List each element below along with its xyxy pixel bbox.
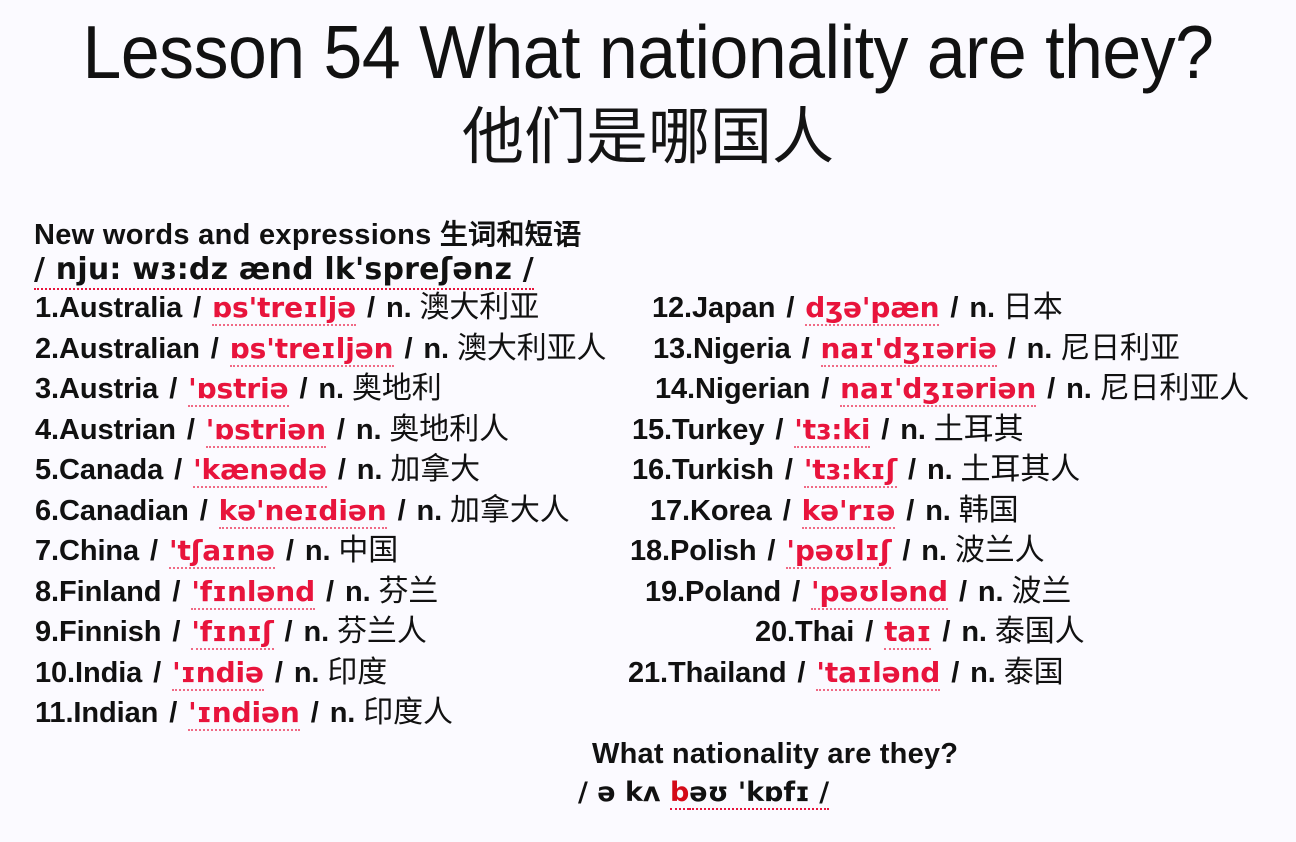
new-words-heading-english: New words and expressions [34, 219, 432, 251]
entry-word: Thailand [668, 657, 786, 689]
entry-chinese: 澳大利亚人 [457, 331, 607, 366]
entry-number: 16. [632, 454, 672, 486]
entry-part-of-speech: n. [921, 535, 947, 567]
phonetic-slash-close: / [401, 333, 415, 365]
phonetic-slash-open: / [208, 333, 222, 365]
entry-phonetic: ɒs'treɪljən [230, 332, 394, 367]
entry-chinese: 日本 [1003, 290, 1063, 325]
footer-phonetic-highlight: b [670, 777, 689, 810]
entry-phonetic: 'tɜ:ki [794, 413, 870, 448]
entry-number: 7. [35, 535, 59, 567]
entry-chinese: 中国 [338, 533, 398, 568]
entry-phonetic: naɪ'dʒɪəriən [840, 372, 1036, 407]
entry-part-of-speech: n. [969, 292, 995, 324]
vocabulary-entry: 18.Polish / 'pəʊlɪʃ / n. 波兰人 [600, 531, 1296, 572]
entry-number: 9. [35, 616, 59, 648]
phonetic-slash-close: / [1005, 333, 1019, 365]
entry-number: 3. [35, 373, 59, 405]
entry-chinese: 奥地利人 [389, 412, 509, 447]
entry-word: Austria [59, 373, 158, 405]
phonetic-slash-open: / [789, 576, 803, 608]
phonetic-slash-close: / [947, 292, 961, 324]
entry-number: 8. [35, 576, 59, 608]
entry-number: 20. [755, 616, 795, 648]
phonetic-slash-close: / [1044, 373, 1058, 405]
entry-phonetic: 'kænədə [193, 453, 327, 488]
entry-chinese: 加拿大 [390, 452, 480, 487]
entry-word: China [59, 535, 139, 567]
lesson-title-english: Lesson 54 What nationality are they? [45, 14, 1250, 91]
lesson-title-chinese: 他们是哪国人 [0, 104, 1296, 169]
entry-part-of-speech: n. [961, 616, 987, 648]
entry-number: 11. [35, 697, 73, 729]
entry-phonetic: kə'neɪdiən [219, 494, 387, 529]
vocabulary-entry: 21.Thailand / 'taɪlənd / n. 泰国 [600, 653, 1296, 694]
phonetic-slash-open: / [147, 535, 161, 567]
entry-word: Finnish [59, 616, 161, 648]
vocabulary-entry: 13.Nigeria / naɪ'dʒɪəriə / n. 尼日利亚 [600, 329, 1296, 370]
phonetic-slash-close: / [878, 414, 892, 446]
entry-chinese: 波兰 [1011, 574, 1071, 609]
vocabulary-entry: 6.Canadian / kə'neɪdiən / n. 加拿大人 [0, 491, 640, 532]
phonetic-slash-close: / [282, 616, 296, 648]
entry-number: 13. [653, 333, 693, 365]
entry-part-of-speech: n. [294, 657, 320, 689]
phonetic-slash-close: / [899, 535, 913, 567]
phonetic-slash-open: / [794, 657, 808, 689]
entry-part-of-speech: n. [900, 414, 926, 446]
entry-chinese: 芬兰 [379, 574, 439, 609]
phonetic-slash-open: / [166, 697, 180, 729]
entry-chinese: 澳大利亚 [420, 290, 540, 325]
phonetic-slash-close: / [364, 292, 378, 324]
entry-number: 14. [655, 373, 695, 405]
entry-part-of-speech: n. [927, 454, 953, 486]
vocabulary-entry: 7.China / 'tʃaɪnə / n. 中国 [0, 531, 640, 572]
entry-number: 18. [630, 535, 670, 567]
entry-number: 4. [35, 414, 59, 446]
entry-part-of-speech: n. [423, 333, 449, 365]
entry-chinese: 土耳其 [934, 412, 1024, 447]
entry-word: Thai [795, 616, 854, 648]
new-words-heading: New words and expressions 生词和短语 [34, 213, 581, 253]
vocabulary-column-left: 1.Australia / ɒs'treɪljə / n. 澳大利亚2.Aust… [0, 288, 640, 734]
entry-chinese: 泰国人 [995, 614, 1085, 649]
phonetic-slash-open: / [169, 616, 183, 648]
phonetic-slash-close: / [905, 454, 919, 486]
entry-part-of-speech: n. [1027, 333, 1053, 365]
entry-number: 15. [632, 414, 672, 446]
phonetic-slash-close: / [335, 454, 349, 486]
phonetic-slash-open: / [862, 616, 876, 648]
entry-chinese: 韩国 [959, 493, 1019, 528]
entry-number: 10. [35, 657, 75, 689]
phonetic-slash-open: / [764, 535, 778, 567]
phonetic-slash-close: / [272, 657, 286, 689]
entry-phonetic: 'tɜ:kɪʃ [804, 453, 897, 488]
entry-word: Turkey [672, 414, 764, 446]
entry-part-of-speech: n. [305, 535, 331, 567]
footer-question-phonetic: / ə kʌ bəʊ 'kɒfɪ / [578, 777, 829, 808]
entry-phonetic: 'ɪndiən [188, 696, 300, 731]
entry-chinese: 奥地利 [352, 371, 442, 406]
vocabulary-entry: 11.Indian / 'ɪndiən / n. 印度人 [0, 693, 640, 734]
footer-phonetic-prefix: / ə kʌ [578, 777, 670, 808]
phonetic-slash-close: / [323, 576, 337, 608]
entry-word: Indian [73, 697, 158, 729]
entry-phonetic: 'ɒstriən [206, 413, 326, 448]
vocabulary-entry: 17.Korea / kə'rɪə / n. 韩国 [600, 491, 1296, 532]
vocabulary-entry: 19.Poland / 'pəʊlənd / n. 波兰 [600, 572, 1296, 613]
phonetic-slash-open: / [197, 495, 211, 527]
entry-phonetic: naɪ'dʒɪəriə [821, 332, 997, 367]
entry-part-of-speech: n. [318, 373, 344, 405]
entry-word: Polish [670, 535, 756, 567]
vocabulary-entry: 1.Australia / ɒs'treɪljə / n. 澳大利亚 [0, 288, 640, 329]
entry-word: India [75, 657, 142, 689]
vocabulary-entry: 15.Turkey / 'tɜ:ki / n. 土耳其 [600, 410, 1296, 451]
entry-number: 21. [628, 657, 668, 689]
entry-phonetic: 'fɪnɪʃ [191, 615, 273, 650]
entry-phonetic: 'tʃaɪnə [169, 534, 275, 569]
entry-word: Poland [685, 576, 781, 608]
new-words-phonetic: / nju: wɜ:dz ænd lk'spreʃənz / [34, 252, 534, 287]
footer-phonetic-suffix: əʊ 'kɒfɪ / [689, 777, 829, 810]
entry-part-of-speech: n. [345, 576, 371, 608]
phonetic-slash-close: / [903, 495, 917, 527]
entry-part-of-speech: n. [386, 292, 412, 324]
entry-phonetic: kə'rɪə [802, 494, 896, 529]
footer-question: What nationality are they? [592, 738, 958, 771]
entry-word: Japan [692, 292, 775, 324]
entry-number: 5. [35, 454, 59, 486]
entry-phonetic: ɒs'treɪljə [212, 291, 356, 326]
phonetic-slash-close: / [956, 576, 970, 608]
entry-chinese: 印度 [327, 655, 387, 690]
phonetic-slash-close: / [395, 495, 409, 527]
new-words-heading-chinese: 生词和短语 [440, 218, 582, 251]
entry-number: 12. [652, 292, 692, 324]
entry-chinese: 土耳其人 [961, 452, 1081, 487]
vocabulary-entry: 5.Canada / 'kænədə / n. 加拿大 [0, 450, 640, 491]
entry-word: Korea [690, 495, 772, 527]
phonetic-slash-open: / [184, 414, 198, 446]
entry-word: Australian [59, 333, 200, 365]
vocabulary-entry: 9.Finnish / 'fɪnɪʃ / n. 芬兰人 [0, 612, 640, 653]
entry-number: 17. [650, 495, 690, 527]
phonetic-slash-open: / [772, 414, 786, 446]
entry-chinese: 泰国 [1004, 655, 1064, 690]
vocabulary-entry: 20.Thai / taɪ / n. 泰国人 [600, 612, 1296, 653]
entry-word: Australia [59, 292, 182, 324]
entry-word: Turkish [672, 454, 774, 486]
vocabulary-column-right: 12.Japan / dʒə'pæn / n. 日本13.Nigeria / n… [600, 288, 1296, 693]
entry-number: 1. [35, 292, 59, 324]
phonetic-slash-open: / [818, 373, 832, 405]
phonetic-slash-open: / [171, 454, 185, 486]
vocabulary-entry: 16.Turkish / 'tɜ:kɪʃ / n. 土耳其人 [600, 450, 1296, 491]
phonetic-slash-close: / [283, 535, 297, 567]
phonetic-slash-close: / [939, 616, 953, 648]
entry-number: 2. [35, 333, 59, 365]
entry-word: Austrian [59, 414, 176, 446]
phonetic-slash-open: / [169, 576, 183, 608]
vocabulary-entry: 8.Finland / 'fɪnlənd / n. 芬兰 [0, 572, 640, 613]
phonetic-slash-open: / [166, 373, 180, 405]
entry-word: Nigeria [693, 333, 791, 365]
entry-word: Finland [59, 576, 161, 608]
entry-part-of-speech: n. [1066, 373, 1092, 405]
phonetic-slash-open: / [782, 454, 796, 486]
vocabulary-entry: 4.Austrian / 'ɒstriən / n. 奥地利人 [0, 410, 640, 451]
entry-chinese: 加拿大人 [450, 493, 570, 528]
entry-part-of-speech: n. [970, 657, 996, 689]
phonetic-slash-close: / [948, 657, 962, 689]
phonetic-slash-open: / [783, 292, 797, 324]
entry-part-of-speech: n. [303, 616, 329, 648]
entry-phonetic: taɪ [884, 615, 931, 650]
phonetic-slash-open: / [150, 657, 164, 689]
entry-phonetic: 'pəʊlənd [811, 575, 948, 610]
entry-phonetic: 'fɪnlənd [191, 575, 315, 610]
entry-word: Canadian [59, 495, 189, 527]
entry-chinese: 芬兰人 [337, 614, 427, 649]
phonetic-slash-close: / [334, 414, 348, 446]
vocabulary-entry: 3.Austria / 'ɒstriə / n. 奥地利 [0, 369, 640, 410]
phonetic-slash-open: / [799, 333, 813, 365]
entry-chinese: 波兰人 [955, 533, 1045, 568]
entry-part-of-speech: n. [978, 576, 1004, 608]
entry-chinese: 尼日利亚人 [1100, 371, 1250, 406]
vocabulary-entry: 14.Nigerian / naɪ'dʒɪəriən / n. 尼日利亚人 [600, 369, 1296, 410]
phonetic-slash-open: / [780, 495, 794, 527]
entry-word: Canada [59, 454, 163, 486]
entry-part-of-speech: n. [330, 697, 356, 729]
entry-part-of-speech: n. [356, 414, 382, 446]
entry-number: 19. [645, 576, 685, 608]
vocabulary-entry: 2.Australian / ɒs'treɪljən / n. 澳大利亚人 [0, 329, 640, 370]
entry-number: 6. [35, 495, 59, 527]
entry-phonetic: 'ɒstriə [188, 372, 288, 407]
lesson-slide: Lesson 54 What nationality are they? 他们是… [0, 0, 1296, 842]
entry-phonetic: 'taɪlənd [816, 656, 940, 691]
vocabulary-entry: 10.India / 'ɪndiə / n. 印度 [0, 653, 640, 694]
phonetic-slash-close: / [296, 373, 310, 405]
entry-part-of-speech: n. [357, 454, 383, 486]
entry-phonetic: dʒə'pæn [805, 291, 939, 326]
entry-part-of-speech: n. [925, 495, 951, 527]
entry-phonetic: 'pəʊlɪʃ [786, 534, 891, 569]
vocabulary-entry: 12.Japan / dʒə'pæn / n. 日本 [600, 288, 1296, 329]
entry-part-of-speech: n. [417, 495, 443, 527]
entry-chinese: 印度人 [363, 695, 453, 730]
phonetic-slash-close: / [308, 697, 322, 729]
entry-chinese: 尼日利亚 [1060, 331, 1180, 366]
phonetic-slash-open: / [190, 292, 204, 324]
entry-word: Nigerian [695, 373, 810, 405]
entry-phonetic: 'ɪndiə [172, 656, 264, 691]
